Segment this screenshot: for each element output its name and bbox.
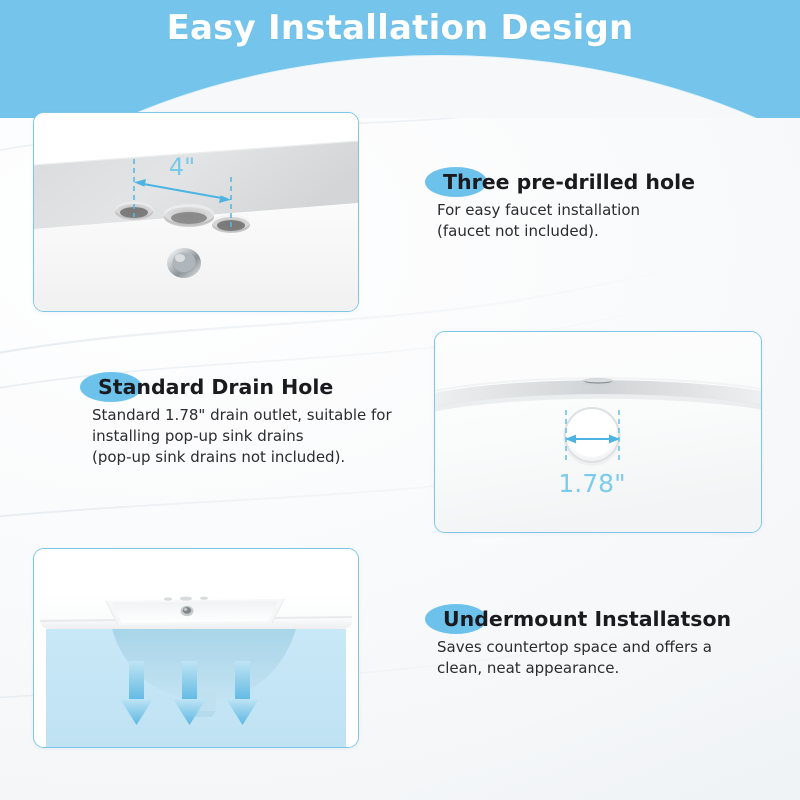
feature-body-line: clean, neat appearance. [437,658,787,679]
feature-body-line: installing pop-up sink drains [92,426,452,447]
dimension-label-4in: 4" [169,153,195,181]
infographic-page: Easy Installation Design [0,0,800,800]
faucet-holes-panel: 4" [33,112,359,312]
feature-body-line: (pop-up sink drains not included). [92,447,452,468]
undermount-down-arrows [120,661,259,725]
heading-wrap: Three pre-drilled hole [437,170,695,194]
heading-wrap: Standard Drain Hole [92,375,333,399]
feature-body-line: Saves countertop space and offers a [437,637,787,658]
feature-heading: Standard Drain Hole [98,375,333,399]
dimension-label-diameter: 1.78" [558,469,625,498]
heading-wrap: Undermount Installatson [437,607,731,631]
feature-body-line: (faucet not included). [437,221,782,242]
feature-body-line: For easy faucet installation [437,200,782,221]
feature-heading: Undermount Installatson [443,607,731,631]
undermount-panel [33,548,359,748]
feature-body-line: Standard 1.78" drain outlet, suitable fo… [92,405,452,426]
page-title: Easy Installation Design [0,8,800,48]
feature-body: Saves countertop space and offers a clea… [437,637,787,679]
feature-text-undermount-installation: Undermount Installatson Saves countertop… [437,607,787,679]
feature-body: Standard 1.78" drain outlet, suitable fo… [92,405,452,468]
feature-text-three-pre-drilled-hole: Three pre-drilled hole For easy faucet i… [437,170,782,242]
feature-text-standard-drain-hole: Standard Drain Hole Standard 1.78" drain… [92,375,452,468]
feature-heading: Three pre-drilled hole [443,170,695,194]
drain-hole-panel: 1.78" [434,331,762,533]
feature-body: For easy faucet installation (faucet not… [437,200,782,242]
header-curve-divider [0,56,800,118]
